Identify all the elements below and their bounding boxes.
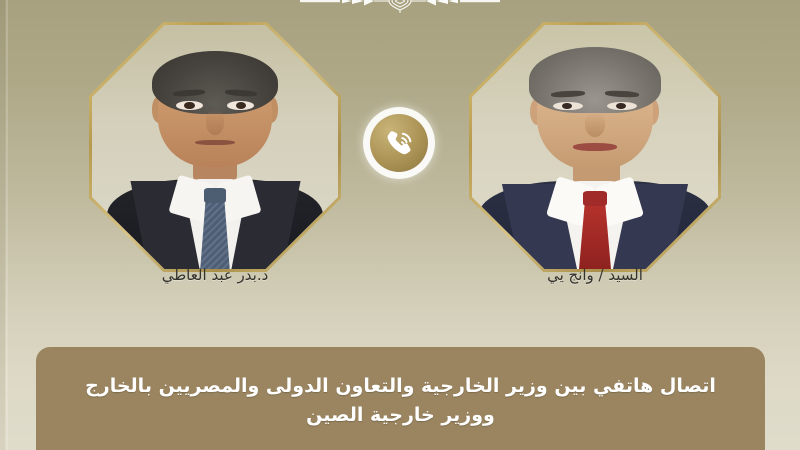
headline-line-1: اتصال هاتفي بين وزير الخارجية والتعاون ا… (85, 375, 716, 397)
portrait-left (89, 22, 341, 272)
phone-call-badge (363, 107, 435, 179)
nose (585, 113, 605, 137)
pupil-left (184, 102, 194, 109)
headline-line-2: ووزير خارجية الصين (54, 401, 747, 430)
photo-badr-abdelatty (92, 25, 338, 269)
phone-badge-disc (370, 114, 428, 172)
octagon-inner-right (472, 25, 718, 269)
octagon-frame-left (89, 22, 341, 272)
octagon-frame-right (469, 22, 721, 272)
photo-wang-yi (472, 25, 718, 269)
necktie-knot (583, 191, 608, 206)
headline-banner: اتصال هاتفي بين وزير الخارجية والتعاون ا… (36, 347, 765, 450)
person-name-left: د.بدر عبد العاطي (89, 266, 341, 284)
mouth (195, 140, 234, 145)
necktie-knot (204, 188, 226, 203)
mouth (573, 143, 617, 151)
headline-text: اتصال هاتفي بين وزير الخارجية والتعاون ا… (36, 372, 765, 430)
portrait-right (469, 22, 721, 272)
left-edge-highlight (6, 0, 8, 450)
nose (206, 110, 223, 134)
ornamental-divider-icon (300, 0, 500, 13)
octagon-inner-left (92, 25, 338, 269)
person-name-right: السيد / وانج يي (469, 266, 721, 284)
left-edge-seam (0, 0, 5, 450)
news-card: د.بدر عبد العاطي السيد / وانج يي اتصال ه… (0, 0, 800, 450)
hair (152, 51, 277, 114)
hair (529, 47, 662, 113)
phone-call-icon (382, 126, 416, 160)
